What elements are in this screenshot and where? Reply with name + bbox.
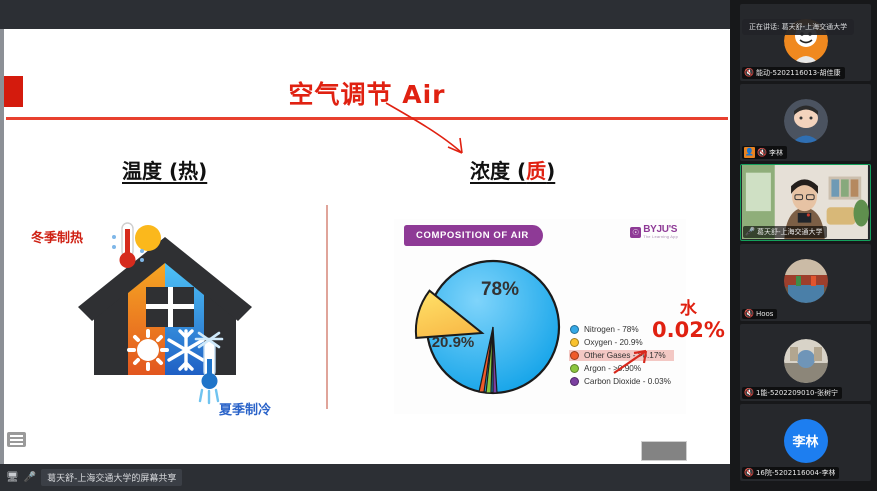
participant-tile-active-speaker[interactable]: 🎤 葛天舒-上海交通大学 — [740, 164, 871, 241]
avatar — [784, 99, 828, 143]
screen-share-area[interactable]: 空气调节 Air 温度 (热) 浓度 (质) 冬季制热 夏季制冷 — [0, 29, 730, 464]
avatar-initials: 李林 — [784, 419, 828, 463]
status-bar-text: 葛天舒-上海交通大学的屏幕共享 — [41, 469, 182, 486]
chart-title-banner: COMPOSITION OF AIR — [404, 225, 543, 246]
screen-share-icon: 🖥 — [6, 473, 19, 483]
water-annotation-arrow — [612, 347, 654, 375]
screen-share-status-bar: 🖥 🎤 葛天舒-上海交通大学的屏幕共享 — [0, 464, 730, 491]
participant-name-chip: 🔇 1能-5202209010-张树宁 — [742, 387, 842, 399]
participant-name-chip: 🎤 葛天舒-上海交通大学 — [743, 226, 827, 238]
legend-label: Oxygen - 20.9% — [584, 338, 643, 347]
zoom-meeting-window: 空气调节 Air 温度 (热) 浓度 (质) 冬季制热 夏季制冷 — [0, 0, 877, 491]
participant-name: 1能-5202209010-张树宁 — [756, 388, 838, 398]
participant-name-chip: 🔇 能动-5202116013-胡佳康 — [742, 67, 845, 79]
participant-tile[interactable]: 李林 🔇 16院-5202116004-李林 — [740, 404, 871, 481]
participant-rail[interactable]: 正在讲话: 葛天舒-上海交通大学 🔇 能动-5202116013-胡佳康 — [730, 0, 877, 491]
heading-concentration: 浓度 (质) — [470, 155, 555, 184]
vertical-divider — [326, 205, 328, 409]
participant-name-chip: 🔇 16院-5202116004-李林 — [742, 467, 839, 479]
participant-name: 16院-5202116004-李林 — [756, 468, 836, 478]
speaking-now-banner: 正在讲话: 葛天舒-上海交通大学 — [742, 19, 854, 35]
legend-label: Nitrogen - 78% — [584, 325, 639, 334]
water-annotation-value: 0.02% — [652, 319, 725, 341]
legend-item: Carbon Dioxide - 0.03% — [569, 376, 674, 387]
participant-tile[interactable]: 🔇 1能-5202209010-张树宁 — [740, 324, 871, 401]
heading-temperature: 温度 (热) — [122, 155, 207, 184]
byjus-tagline: The Learning App — [643, 235, 678, 239]
legend-swatch-icon — [570, 351, 579, 360]
participant-name-chip: 🔇 Hoos — [742, 309, 777, 319]
avatar — [784, 259, 828, 303]
water-annotation-label: 水 — [652, 301, 725, 319]
list-menu-icon[interactable] — [7, 432, 26, 447]
participant-name-chip: 👤 🔇 李林 — [742, 146, 787, 159]
microphone-active-icon: 🎤 — [745, 228, 755, 236]
participant-name: 能动-5202116013-胡佳康 — [756, 68, 841, 78]
title-to-heading-arrow — [384, 101, 499, 163]
heading-concentration-accent: 质 — [526, 159, 546, 183]
legend-swatch-icon — [570, 325, 579, 334]
participant-tile[interactable]: 🔇 Hoos — [740, 244, 871, 321]
svg-text:20.9%: 20.9% — [432, 334, 475, 351]
presentation-slide[interactable]: 空气调节 Air 温度 (热) 浓度 (质) 冬季制热 夏季制冷 — [4, 29, 730, 464]
legend-swatch-icon — [570, 364, 579, 373]
byjus-logo: ☉ BYJU'S The Learning App — [630, 225, 678, 239]
participant-tile[interactable]: 👤 🔇 李林 — [740, 84, 871, 161]
slide-title: 空气调节 Air — [4, 75, 730, 111]
participant-tile[interactable]: 正在讲话: 葛天舒-上海交通大学 🔇 能动-5202116013-胡佳康 — [740, 4, 871, 81]
heading-concentration-suffix: ) — [546, 159, 555, 183]
host-badge-icon: 👤 — [744, 147, 755, 158]
svg-text:78%: 78% — [481, 279, 519, 300]
top-band — [0, 0, 730, 29]
water-annotation: 水 0.02% — [652, 301, 725, 341]
slide-placeholder-box — [641, 441, 687, 461]
legend-label: Carbon Dioxide - 0.03% — [584, 377, 671, 386]
house-hvac-illustration — [26, 215, 316, 415]
participant-name: 葛天舒-上海交通大学 — [757, 227, 823, 237]
legend-swatch-icon — [570, 338, 579, 347]
byjus-mark-icon: ☉ — [630, 227, 641, 238]
legend-swatch-icon — [570, 377, 579, 386]
participant-name: Hoos — [756, 310, 773, 318]
microphone-icon: 🎤 — [24, 473, 36, 483]
avatar — [784, 339, 828, 383]
microphone-muted-icon: 🔇 — [744, 389, 754, 397]
microphone-muted-icon: 🔇 — [744, 310, 754, 318]
participant-name: 李林 — [769, 148, 783, 158]
air-composition-chart: COMPOSITION OF AIR ☉ BYJU'S The Learning… — [394, 219, 686, 414]
microphone-muted-icon: 🔇 — [757, 149, 767, 157]
microphone-muted-icon: 🔇 — [744, 469, 754, 477]
microphone-muted-icon: 🔇 — [744, 69, 754, 77]
heading-concentration-prefix: 浓度 ( — [470, 159, 526, 183]
pie-chart-graphic: 78% 20.9% — [398, 247, 578, 412]
title-divider-rule — [6, 117, 728, 120]
